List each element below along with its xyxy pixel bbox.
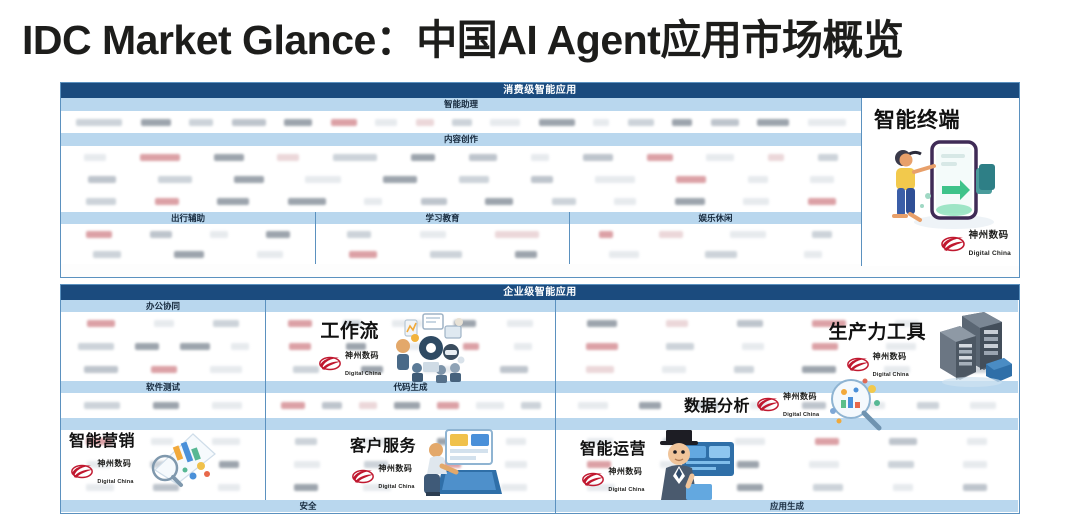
digital-china-mark-icon: [940, 235, 966, 252]
enterprise-cell-software-testing: 软件测试: [61, 381, 265, 418]
logo-strip-productivity: [556, 312, 1018, 381]
spacer-bar-customer-service: [266, 418, 555, 430]
brand-name-cn: 神州数码: [969, 230, 1009, 241]
consumer-section: 消费级智能应用 智能助理: [60, 82, 1020, 278]
logo-strip-smart-assistant: [61, 111, 861, 133]
enterprise-cell-app-generation: 应用生成: [555, 500, 1018, 514]
spacer-bar-workflow: [266, 300, 555, 312]
consumer-subcategory-row: 出行辅助 学习教育: [61, 212, 861, 264]
spacer-bar-data-analytics: [556, 381, 1018, 393]
enterprise-section: 企业级智能应用 办公协同: [60, 284, 1020, 514]
category-column-entertainment: 娱乐休闲: [569, 212, 861, 264]
category-header-entertainment[interactable]: 娱乐休闲: [570, 212, 861, 224]
consumer-section-body: 智能助理 内容创作: [61, 98, 1019, 266]
logo-strip-security: [61, 512, 555, 514]
logo-strip-code-generation: [266, 393, 555, 418]
enterprise-footer-row: 安全 应用生成: [61, 500, 1019, 514]
brand-name-en: Digital China: [969, 250, 1011, 257]
feature-panel-smart-terminal: 智能终端: [861, 98, 1019, 266]
person-with-smartphone-ar-illustration: [876, 130, 1008, 234]
category-header-smart-assistant[interactable]: 智能助理: [61, 98, 861, 111]
brand-logo-digital-china: 神州数码 Digital China: [940, 226, 1011, 260]
logo-strip-education: [316, 224, 569, 264]
enterprise-row-1: 办公协同: [61, 300, 1019, 381]
enterprise-cell-office-collab: 办公协同: [61, 300, 265, 381]
category-header-security[interactable]: 安全: [61, 500, 555, 512]
logo-strip-smart-marketing: [61, 430, 265, 500]
category-column-education: 学习教育: [315, 212, 569, 264]
logo-strip-customer-service: [266, 430, 555, 500]
enterprise-cell-smart-operations: 智能运营 神州数码 Digital China: [555, 418, 1018, 500]
market-glance-board: 消费级智能应用 智能助理: [60, 82, 1020, 514]
logo-strip-office-collab: [61, 312, 265, 381]
category-header-software-testing[interactable]: 软件测试: [61, 381, 265, 393]
consumer-section-header: 消费级智能应用: [61, 83, 1019, 98]
category-header-office-collab[interactable]: 办公协同: [61, 300, 265, 312]
logo-strip-travel: [61, 224, 315, 264]
category-header-education[interactable]: 学习教育: [316, 212, 569, 224]
enterprise-row-2: 软件测试 代码生成: [61, 381, 1019, 418]
logo-strip-software-testing: [61, 393, 265, 418]
enterprise-cell-workflow: 工作流 神州数码 Digital China: [265, 300, 555, 381]
enterprise-cell-data-analytics: 数据分析 神州数码 Digital China: [555, 381, 1018, 418]
spacer-bar-smart-marketing: [61, 418, 265, 430]
category-header-app-generation[interactable]: 应用生成: [556, 500, 1018, 512]
category-header-code-generation[interactable]: 代码生成: [266, 381, 555, 393]
enterprise-cell-productivity: 生产力工具 神州数码 Digital China: [555, 300, 1018, 381]
page-title: IDC Market Glance：中国AI Agent应用市场概览: [22, 14, 1068, 66]
logo-strip-app-generation: [556, 512, 1018, 514]
logo-strip-smart-operations: [556, 430, 1018, 500]
spacer-bar-productivity: [556, 300, 1018, 312]
enterprise-row-3: 智能营销 神州数码 Digital China: [61, 418, 1019, 500]
enterprise-cell-customer-service: 客户服务 神州数码 Digital China: [265, 418, 555, 500]
category-header-travel[interactable]: 出行辅助: [61, 212, 315, 224]
logo-strip-content-creation: [61, 146, 861, 212]
logo-strip-data-analytics: [556, 393, 1018, 418]
enterprise-cell-code-generation: 代码生成: [265, 381, 555, 418]
logo-strip-entertainment: [570, 224, 861, 264]
spacer-bar-smart-operations: [556, 418, 1018, 430]
category-header-content-creation[interactable]: 内容创作: [61, 133, 861, 146]
consumer-categories: 智能助理 内容创作: [61, 98, 861, 266]
logo-strip-workflow: [266, 312, 555, 381]
enterprise-cell-smart-marketing: 智能营销 神州数码 Digital China: [61, 418, 265, 500]
enterprise-section-header: 企业级智能应用: [61, 285, 1019, 300]
category-column-travel: 出行辅助: [61, 212, 315, 264]
enterprise-cell-security: 安全: [61, 500, 555, 514]
